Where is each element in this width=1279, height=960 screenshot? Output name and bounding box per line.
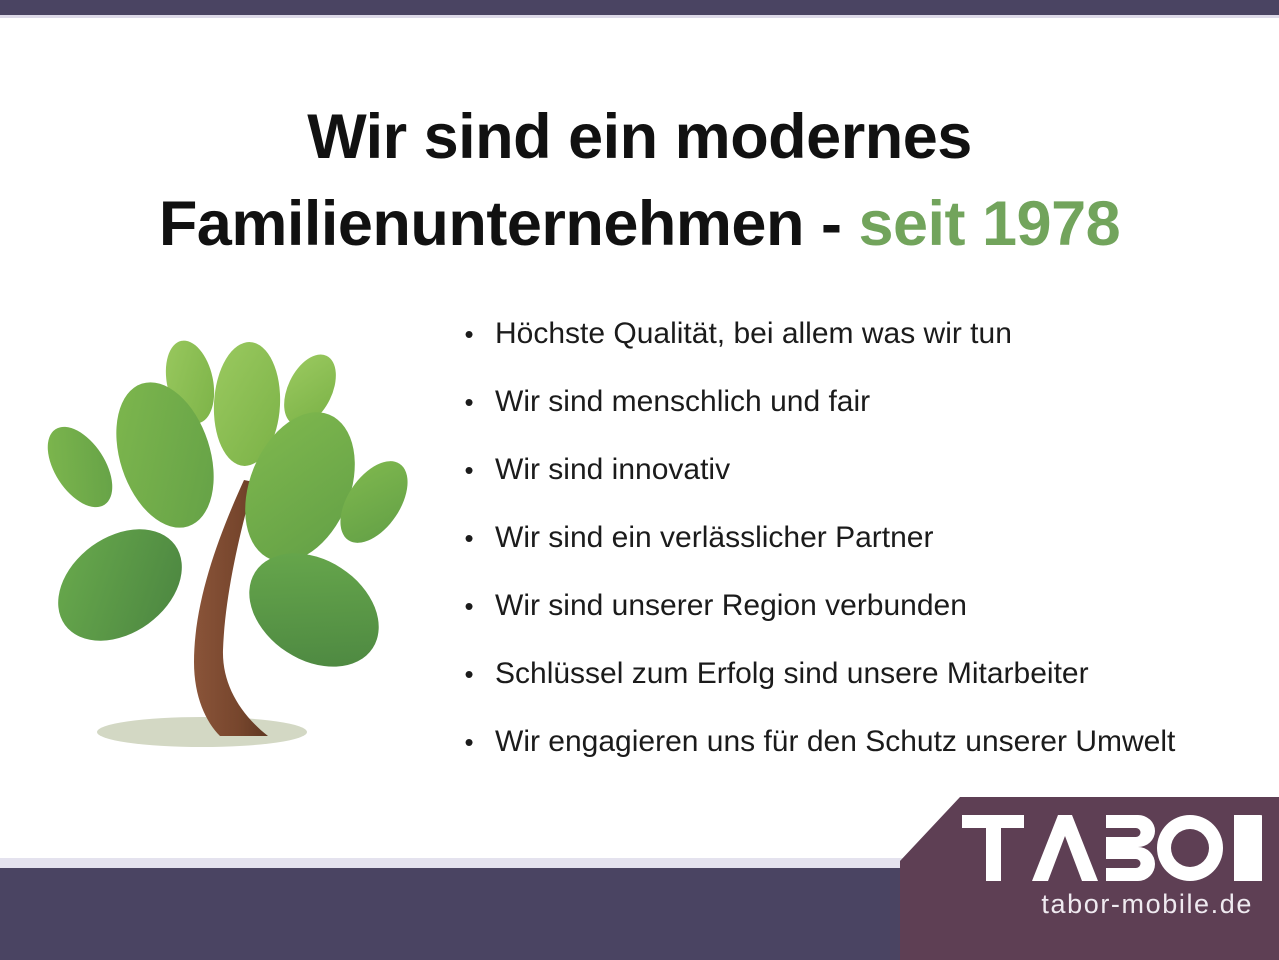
list-item: • Wir sind unserer Region verbunden xyxy=(455,572,1265,640)
slide-headline: Wir sind ein modernes Familienunternehme… xyxy=(0,94,1279,268)
list-item: • Wir sind menschlich und fair xyxy=(455,368,1265,436)
bullet-icon: • xyxy=(463,436,475,504)
headline-line-2-prefix: Familienunternehmen - xyxy=(159,189,859,259)
top-accent-bar xyxy=(0,0,1279,15)
leaf-lower-right xyxy=(228,530,400,690)
tree-shadow xyxy=(97,717,307,747)
leaf-lower-left xyxy=(37,506,203,664)
list-item-label: Höchste Qualität, bei allem was wir tun xyxy=(495,317,1012,350)
tree-illustration xyxy=(22,332,442,762)
list-item: • Höchste Qualität, bei allem was wir tu… xyxy=(455,300,1265,368)
bullet-icon: • xyxy=(463,368,475,436)
list-item-label: Wir sind menschlich und fair xyxy=(495,385,870,418)
headline-line-1: Wir sind ein modernes xyxy=(0,94,1279,181)
list-item: • Wir sind innovativ xyxy=(455,436,1265,504)
bullet-icon: • xyxy=(463,300,475,368)
values-bullet-list: • Höchste Qualität, bei allem was wir tu… xyxy=(455,300,1265,776)
logo-url-label: tabor-mobile.de xyxy=(900,889,1279,920)
top-bar-divider xyxy=(0,15,1279,18)
headline-accent-year: seit 1978 xyxy=(858,189,1120,259)
bullet-icon: • xyxy=(463,504,475,572)
list-item: • Wir sind ein verlässlicher Partner xyxy=(455,504,1265,572)
list-item-label: Wir engagieren uns für den Schutz unsere… xyxy=(495,725,1175,758)
list-item-label: Wir sind innovativ xyxy=(495,453,730,486)
list-item-label: Schlüssel zum Erfolg sind unsere Mitarbe… xyxy=(495,657,1089,690)
bullet-icon: • xyxy=(463,640,475,708)
tabor-wordmark-icon xyxy=(962,815,1262,881)
tabor-logo-badge: tabor-mobile.de xyxy=(900,797,1279,960)
list-item-label: Wir sind ein verlässlicher Partner xyxy=(495,521,933,554)
leaf-left-small xyxy=(35,416,126,519)
bullet-icon: • xyxy=(463,572,475,640)
slide-canvas: Wir sind ein modernes Familienunternehme… xyxy=(0,0,1279,960)
list-item: • Wir engagieren uns für den Schutz unse… xyxy=(455,708,1265,776)
list-item: • Schlüssel zum Erfolg sind unsere Mitar… xyxy=(455,640,1265,708)
headline-line-2: Familienunternehmen - seit 1978 xyxy=(0,181,1279,268)
bullet-icon: • xyxy=(463,708,475,776)
list-item-label: Wir sind unserer Region verbunden xyxy=(495,589,967,622)
